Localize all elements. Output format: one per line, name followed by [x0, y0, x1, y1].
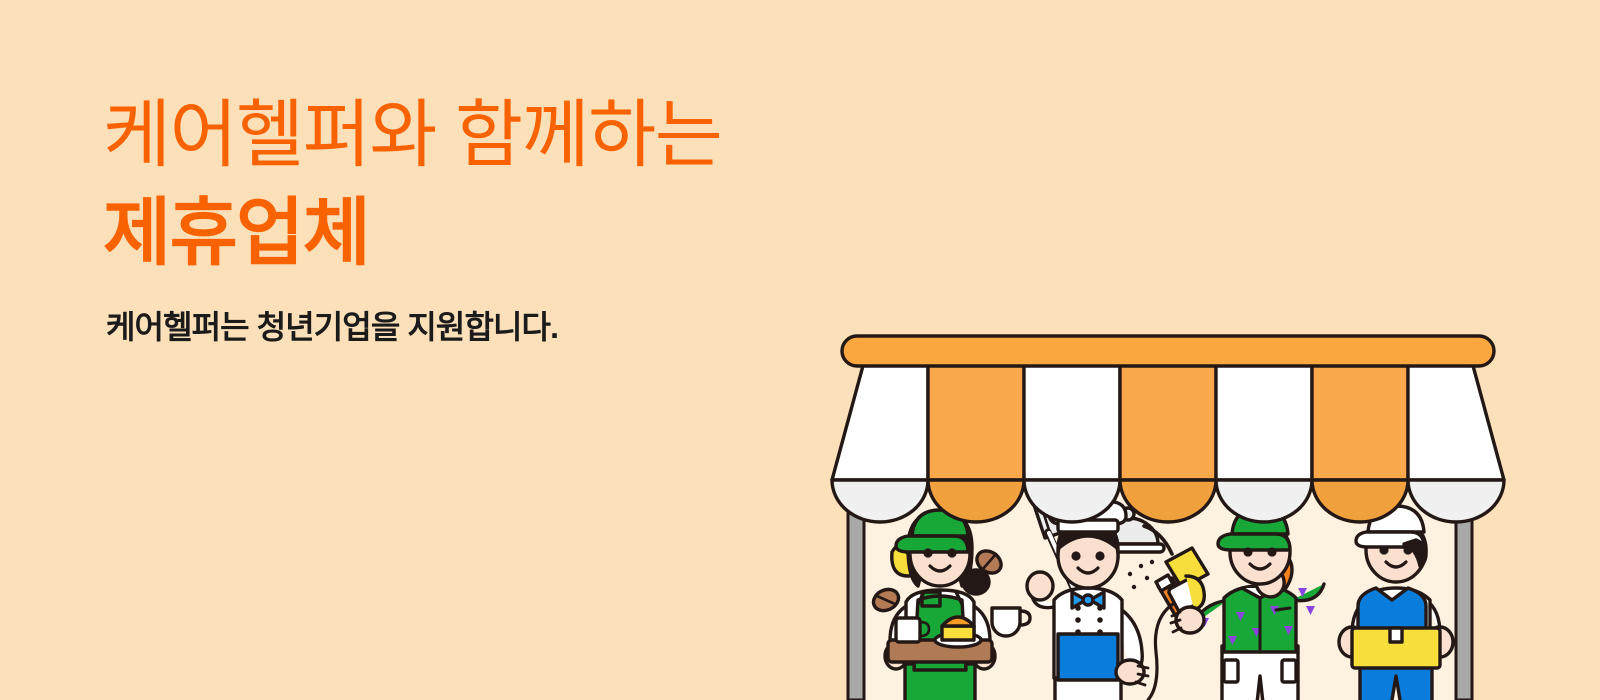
chef-eye-left [1071, 551, 1080, 560]
gas-chest-pocket [1276, 608, 1290, 610]
awning-top-bar [842, 336, 1494, 366]
chef-hand-left [1027, 572, 1053, 600]
storefront-illustration [800, 300, 1520, 700]
chef-bowtie-knot [1083, 595, 1093, 605]
gas-eye-left [1243, 547, 1252, 556]
hero-text-block: 케어헬퍼와 함께하는 제휴업체 케어헬퍼는 청년기업을 지원합니다. [103, 86, 803, 349]
barista-eye-left [923, 548, 932, 557]
awning-stripe-white [1408, 362, 1504, 522]
awning-stripe-white [832, 362, 928, 522]
chef-hand-right [1116, 660, 1144, 684]
chef-apron [1058, 634, 1118, 680]
headline-line-2: 제휴업체 [103, 184, 803, 282]
gas-pocket-left [1224, 660, 1238, 682]
hero-subtitle: 케어헬퍼는 청년기업을 지원합니다. [106, 307, 803, 349]
barista-hair-bun [963, 570, 989, 594]
gas-eye-right [1267, 547, 1276, 556]
awning-stripe-orange [1312, 362, 1408, 522]
parcel-box-icon [1352, 628, 1440, 668]
partner-hero-banner: 케어헬퍼와 함께하는 제휴업체 케어헬퍼는 청년기업을 지원합니다. [0, 0, 1600, 700]
awning [832, 336, 1504, 522]
headline-line-1: 케어헬퍼와 함께하는 [103, 86, 803, 184]
awning-stripe-orange [928, 362, 1024, 522]
awning-stripe-orange [1120, 362, 1216, 522]
awning-stripe-white [1024, 362, 1120, 522]
delivery-eye-right [1403, 545, 1412, 554]
chef-eye-right [1095, 551, 1104, 560]
delivery-eye-left [1379, 545, 1388, 554]
gas-pocket-right [1282, 660, 1296, 682]
barista-cap-brim [896, 536, 968, 552]
barista-eye-right [947, 548, 956, 557]
awning-stripe-white [1216, 362, 1312, 522]
gas-cap-brim [1218, 534, 1290, 550]
